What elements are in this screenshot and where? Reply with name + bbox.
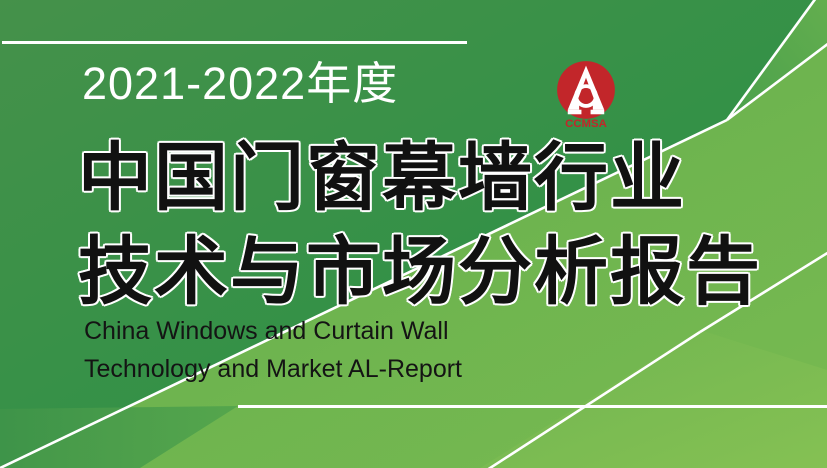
report-cover: 2021-2022年度 中国门窗幕墙行业 技术与市场分析报告 China Win… (0, 0, 827, 468)
bottom-divider-rule (238, 405, 827, 408)
page-title: 中国门窗幕墙行业 技术与市场分析报告 (78, 131, 762, 319)
logo-base-left (568, 110, 582, 115)
title-line-1: 中国门窗幕墙行业 (78, 135, 686, 221)
subtitle-line-2: Technology and Market AL-Report (84, 350, 462, 388)
ccmsa-logo-icon: CCMSA (548, 55, 624, 131)
logo-base-right (591, 110, 605, 115)
subtitle-line-1: China Windows and Curtain Wall (84, 312, 462, 350)
logo-acronym: CCMSA (565, 118, 607, 130)
english-subtitle: China Windows and Curtain Wall Technolog… (84, 312, 462, 388)
top-divider-rule (2, 41, 467, 44)
year-range: 2021-2022年度 (82, 61, 398, 106)
title-line-2: 技术与市场分析报告 (78, 225, 762, 319)
